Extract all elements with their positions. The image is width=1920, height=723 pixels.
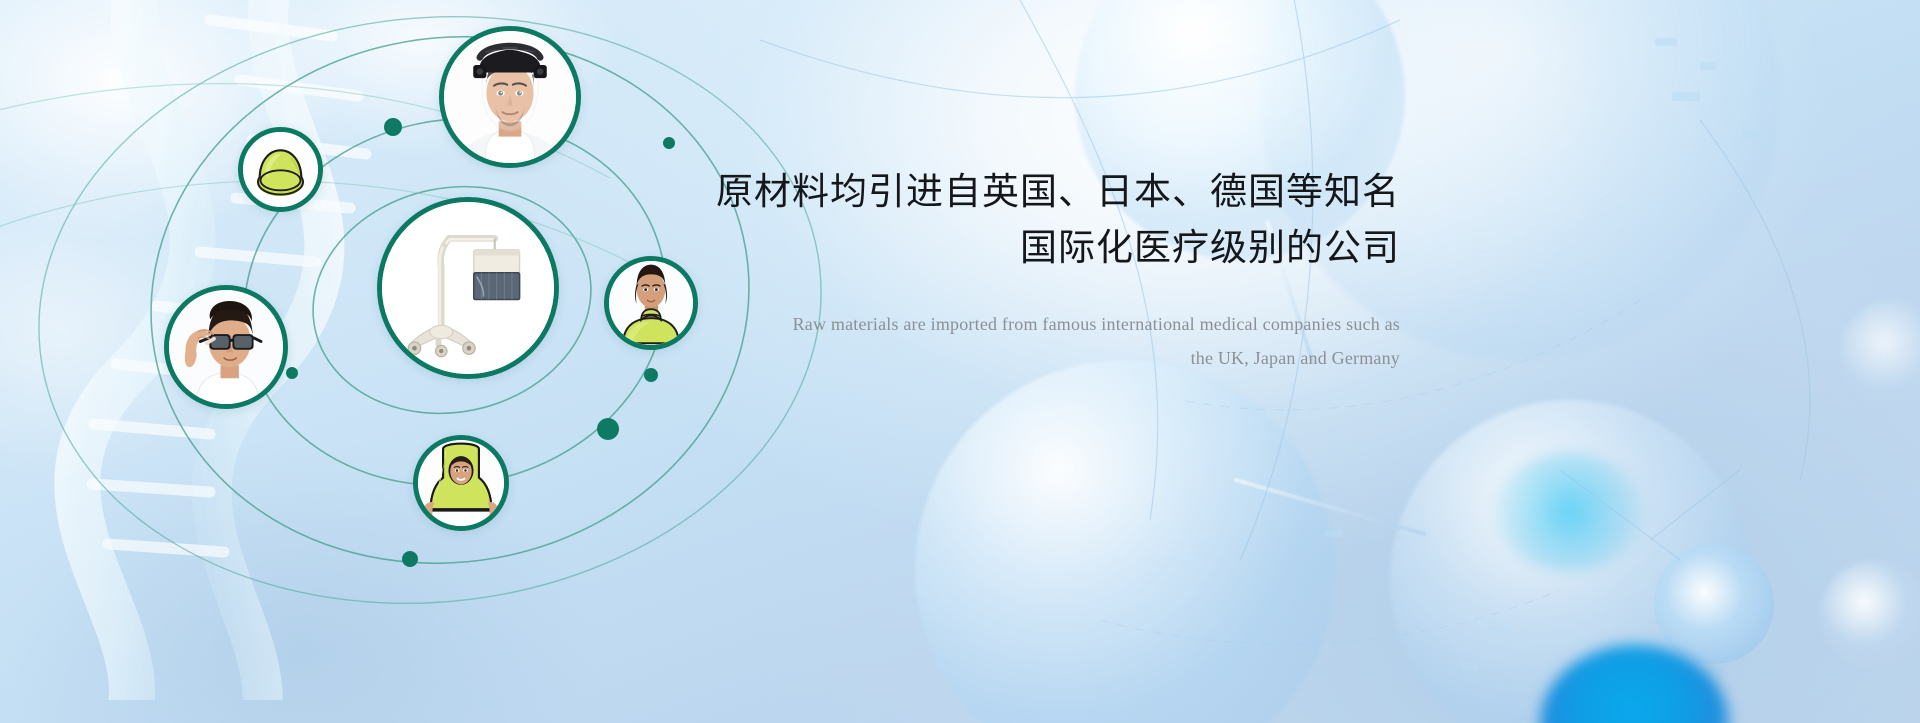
banner-copy: 原材料均引进自英国、日本、德国等知名 国际化医疗级别的公司 Raw materi…	[700, 165, 1400, 375]
lead-cap-photo	[243, 132, 318, 207]
subtitle-line-2: the UK, Japan and Germany	[700, 342, 1400, 375]
product-bubble-lead-hood[interactable]	[413, 435, 509, 531]
headline-line-2: 国际化医疗级别的公司	[700, 221, 1400, 275]
face-shield-photo	[444, 31, 576, 163]
thyroid-collar-photo	[609, 261, 693, 345]
lead-glasses-photo	[169, 290, 283, 404]
hero-banner: 原材料均引进自英国、日本、德国等知名 国际化医疗级别的公司 Raw materi…	[0, 0, 1920, 723]
headline-line-1: 原材料均引进自英国、日本、德国等知名	[700, 165, 1400, 219]
subtitle-line-1: Raw materials are imported from famous i…	[700, 308, 1400, 341]
product-bubble-mobile-shield[interactable]	[377, 197, 559, 379]
mobile-shield-photo	[382, 202, 554, 374]
lead-hood-photo	[418, 440, 504, 526]
product-bubble-lead-cap[interactable]	[238, 127, 323, 212]
subtitle: Raw materials are imported from famous i…	[700, 308, 1400, 375]
product-bubble-face-shield[interactable]	[439, 26, 581, 168]
product-bubble-lead-glasses[interactable]	[164, 285, 288, 409]
product-bubble-thyroid-collar[interactable]	[604, 256, 698, 350]
